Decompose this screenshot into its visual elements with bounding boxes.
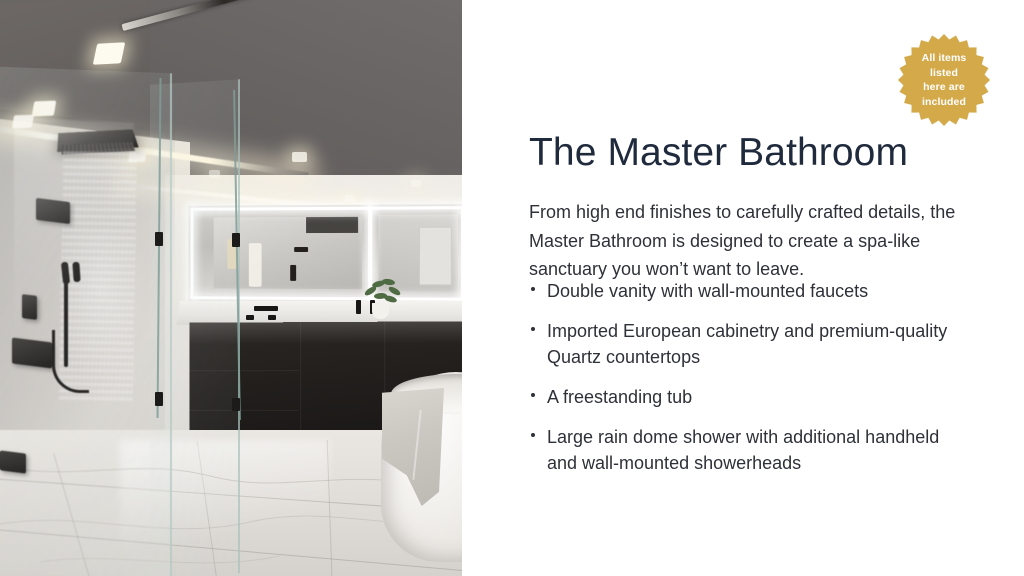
plant-vase xyxy=(372,303,389,319)
bullet-dot-icon xyxy=(531,327,535,331)
badge-text: All items listed here are included xyxy=(897,29,991,131)
bullet-dot-icon xyxy=(531,393,535,397)
list-item-label: Double vanity with wall-mounted faucets xyxy=(547,281,868,301)
mirror-reflection-fixture xyxy=(290,265,296,281)
master-bathroom-photo xyxy=(0,0,462,576)
wall-mounted-faucet xyxy=(254,306,278,311)
badge-line-4: included xyxy=(922,95,966,110)
glass-clamp xyxy=(155,392,163,406)
mirror-reflection-ceiling xyxy=(306,217,358,233)
badge-line-2: listed xyxy=(930,66,958,81)
list-item: Large rain dome shower with additional h… xyxy=(529,424,949,476)
bullet-dot-icon xyxy=(531,433,535,437)
list-item: A freestanding tub xyxy=(529,384,949,410)
slide: The Master Bathroom From high end finish… xyxy=(0,0,1024,576)
glass-reflection xyxy=(14,117,134,423)
list-item-label: Imported European cabinetry and premium-… xyxy=(547,321,947,367)
feature-list: Double vanity with wall-mounted faucets … xyxy=(529,278,949,490)
faucet-handle xyxy=(246,315,254,320)
bullet-dot-icon xyxy=(531,287,535,291)
mirror-reflection-showerhead xyxy=(294,247,308,252)
page-title: The Master Bathroom xyxy=(529,130,999,176)
downlight-icon xyxy=(411,180,421,187)
glass-clamp xyxy=(155,232,163,246)
mirror-reflection-towel xyxy=(249,243,262,287)
glass-clamp xyxy=(232,398,240,411)
faucet-handle xyxy=(356,300,361,314)
badge-line-3: here are xyxy=(923,80,965,95)
glass-shower-panel xyxy=(150,79,240,576)
downlight-icon xyxy=(292,152,307,162)
list-item-label: Large rain dome shower with additional h… xyxy=(547,427,939,473)
status-badge: All items listed here are included xyxy=(897,29,991,131)
downlight-icon xyxy=(93,42,125,64)
mirror-reflection-door xyxy=(419,227,452,286)
intro-paragraph: From high end finishes to carefully craf… xyxy=(529,198,957,284)
list-item: Imported European cabinetry and premium-… xyxy=(529,318,949,370)
badge-line-1: All items xyxy=(922,51,967,66)
downlight-icon xyxy=(345,195,355,202)
glass-clamp xyxy=(232,233,240,247)
list-item: Double vanity with wall-mounted faucets xyxy=(529,278,949,304)
list-item-label: A freestanding tub xyxy=(547,387,692,407)
faucet-handle xyxy=(268,315,276,320)
